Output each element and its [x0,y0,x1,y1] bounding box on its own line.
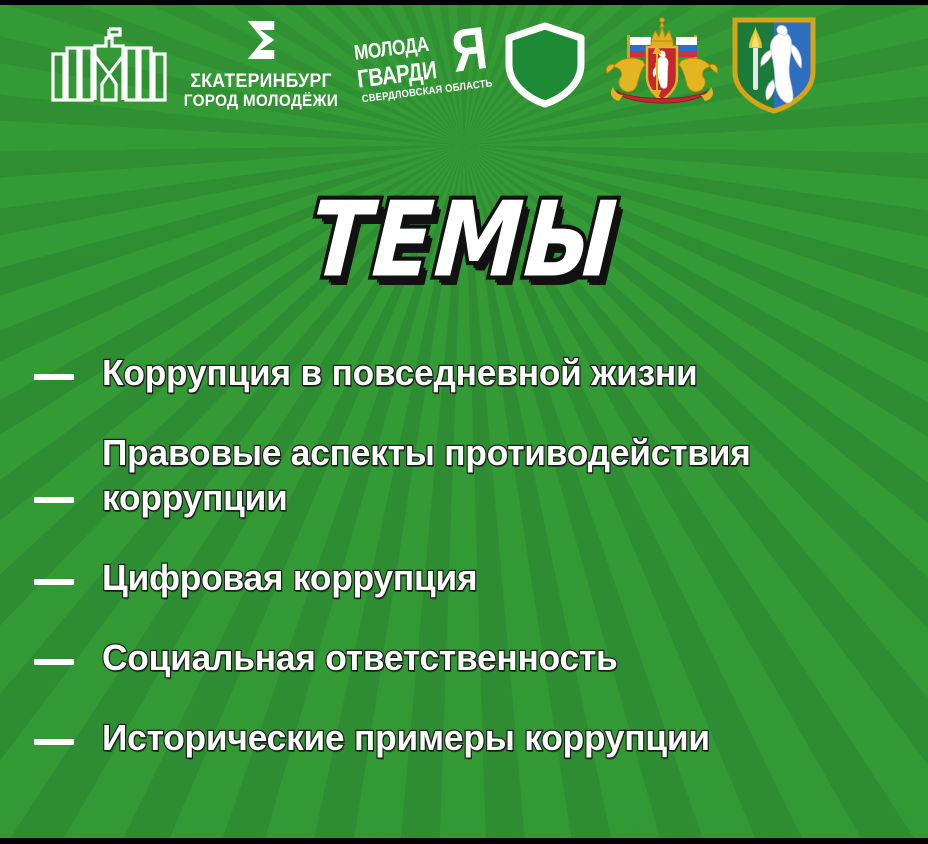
topic-label: Исторические примеры коррупции [102,715,710,761]
ekaterinburg-line2: ГОРОД МОЛОДЁЖИ [184,92,338,111]
shield-icon [490,16,600,112]
ministry-emblem-icon [46,21,172,107]
molodaya-gvardiya-big-letter: Я [449,18,491,82]
ekaterinburg-line1: ΣКАТЕРИНБУРГ [190,72,332,92]
list-item: Правовые аспекты противодействия коррупц… [34,430,898,521]
page-title-text: ТЕМЫ [307,188,621,292]
poster-canvas: ΣКАТЕРИНБУРГ ГОРОД МОЛОДЁЖИ МОЛОДА ГВАРД… [0,0,928,844]
logo-strip: ΣКАТЕРИНБУРГ ГОРОД МОЛОДЁЖИ МОЛОДА ГВАРД… [0,14,928,114]
dash-bullet-icon [34,739,74,745]
dash-bullet-icon [34,374,74,380]
list-item: Исторические примеры коррупции [34,715,898,761]
topics-list: Коррупция в повседневной жизни Правовые … [0,350,928,794]
list-item: Цифровая коррупция [34,555,898,601]
list-item: Коррупция в повседневной жизни [34,350,898,396]
dash-bullet-icon [34,497,74,503]
top-black-bar [0,0,928,5]
molodaya-gvardiya-logo: МОЛОДА ГВАРДИ Я СВЕРДЛОВСКАЯ ОБЛАСТЬ [350,18,490,110]
ekaterinburg-sigma-icon [243,17,279,68]
dash-bullet-icon [34,579,74,585]
ekaterinburg-youth-city-logo: ΣКАТЕРИНБУРГ ГОРОД МОЛОДЁЖИ [172,18,350,110]
topic-label: Социальная ответственность [102,635,618,681]
ekaterinburg-coat-of-arms [724,14,824,114]
sverdlovsk-oblast-coat-of-arms [600,14,724,114]
topic-label: Правовые аспекты противодействия коррупц… [102,430,882,521]
bottom-black-bar [0,838,928,844]
topic-label: Коррупция в повседневной жизни [102,350,698,396]
page-title: ТЕМЫ [0,196,928,284]
dash-bullet-icon [34,659,74,665]
topic-label: Цифровая коррупция [102,555,477,601]
list-item: Социальная ответственность [34,635,898,681]
